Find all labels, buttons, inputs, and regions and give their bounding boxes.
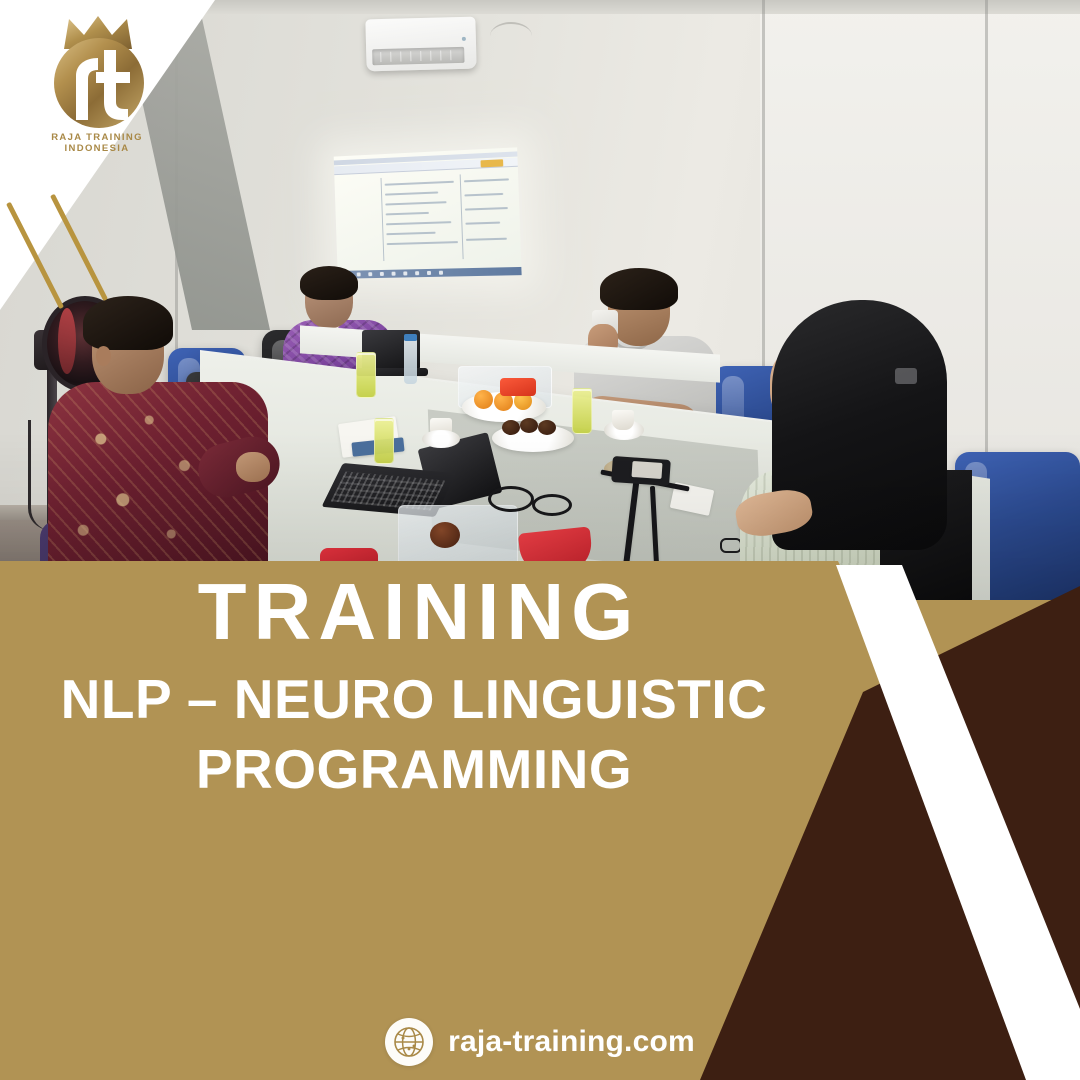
page-title: TRAINING <box>0 572 838 652</box>
globe-icon <box>385 1018 433 1066</box>
website-url[interactable]: raja-training.com <box>448 1025 695 1059</box>
logo-tagline: RAJA TRAINING INDONESIA <box>22 132 172 154</box>
footer: raja-training.com <box>0 1012 1080 1072</box>
brand-logo[interactable]: RAJA TRAINING INDONESIA <box>22 16 172 146</box>
poster-canvas: RAJA TRAINING INDONESIA TRAINING NLP – N… <box>0 0 1080 1080</box>
rt-monogram-icon <box>70 50 132 120</box>
page-subtitle: NLP – NEURO LINGUISTIC PROGRAMMING <box>0 664 828 805</box>
